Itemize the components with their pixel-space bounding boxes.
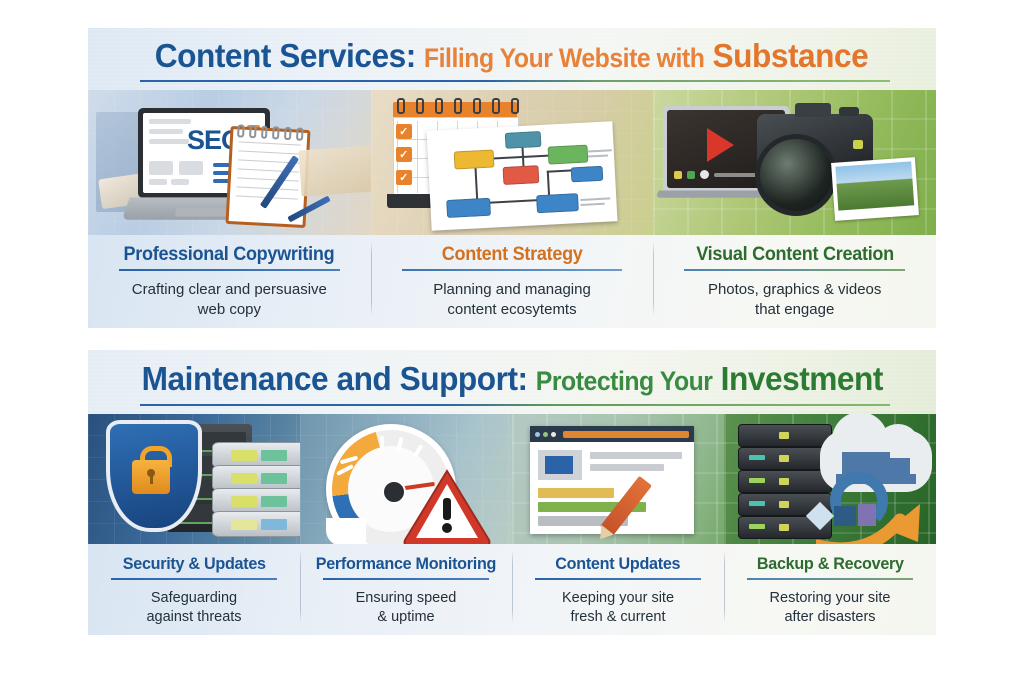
browser-dot: [535, 432, 540, 437]
server-unit: [738, 424, 832, 447]
warning-triangle-icon: [402, 468, 492, 544]
content-line: [590, 452, 682, 459]
browser-dot: [551, 432, 556, 437]
feature-desc-line-2: that engage: [755, 301, 834, 318]
feature-desc-line-1: Crafting clear and persuasive: [132, 281, 327, 298]
feature-title: Content Updates: [556, 553, 681, 575]
feature-description: Safeguarding against threats: [146, 589, 241, 627]
flow-node: [536, 193, 579, 213]
database-disc: [212, 511, 300, 537]
feature-column-content-updates: Content Updates Keeping your site fresh …: [512, 544, 724, 635]
calendar-rings: [397, 98, 521, 114]
flow-node: [446, 198, 491, 218]
flow-node: [504, 131, 541, 149]
feature-title: Professional Copywriting: [124, 244, 335, 266]
camera-viewfinder: [795, 103, 831, 117]
image-band-content-services: SEO: [88, 90, 936, 235]
feature-underline: [111, 578, 276, 580]
feature-column-content-strategy: Content Strategy Planning and managing c…: [371, 235, 654, 328]
laptop-trackpad: [175, 208, 233, 217]
padlock-icon: [132, 460, 170, 494]
title-underline: [140, 404, 890, 406]
feature-column-copywriting: Professional Copywriting Crafting clear …: [88, 235, 371, 328]
calendar-checkmark: ✓: [396, 124, 412, 139]
flow-node: [570, 166, 603, 183]
feature-title: Security & Updates: [123, 553, 266, 575]
content-updates-scene: [512, 414, 724, 544]
feature-desc-line-2: content ecosytemts: [447, 301, 576, 318]
feature-column-performance-monitoring: Performance Monitoring Ensuring speed & …: [300, 544, 512, 635]
content-line: [590, 464, 664, 471]
flow-node: [453, 149, 494, 169]
database-stack: [212, 442, 300, 536]
feature-title: Backup & Recovery: [757, 553, 904, 575]
title-part-2: Filling Your Website with: [424, 43, 704, 74]
calendar-flowchart-scene: ✓ ✓ ✓: [371, 90, 654, 235]
feature-underline: [323, 578, 488, 580]
feature-underline: [535, 578, 700, 580]
screen-skeleton-line: [149, 139, 189, 144]
panel-content-services: Content Services: Filling Your Website w…: [88, 28, 936, 328]
notepad-spiral: [237, 124, 303, 136]
feature-column-security-updates: Security & Updates Safeguarding against …: [88, 544, 300, 635]
paper-stack: [298, 146, 370, 197]
browser-dot: [543, 432, 548, 437]
feature-desc-line-1: Ensuring speed: [356, 590, 457, 606]
feature-title: Performance Monitoring: [316, 553, 496, 575]
feature-description: Ensuring speed & uptime: [356, 589, 457, 627]
caption-band-maintenance-support: Security & Updates Safeguarding against …: [88, 544, 936, 635]
content-bar-yellow: [538, 488, 614, 498]
screen-skeleton-line: [149, 119, 191, 124]
feature-column-visual-content: Visual Content Creation Photos, graphics…: [653, 235, 936, 328]
feature-description: Planning and managing content ecosytemts: [433, 280, 591, 320]
calendar-checkmark: ✓: [396, 147, 412, 162]
feature-underline: [119, 269, 339, 271]
seo-laptop-scene: SEO: [88, 90, 371, 235]
browser-address-bar[interactable]: [563, 431, 689, 438]
recovery-arrow-icon: [816, 502, 926, 544]
screen-skeleton-line: [149, 179, 167, 185]
screen-skeleton-line: [171, 179, 189, 185]
feature-underline: [747, 578, 912, 580]
feature-underline: [402, 269, 622, 271]
flow-node: [547, 145, 588, 165]
panel-header-content-services: Content Services: Filling Your Website w…: [88, 28, 936, 90]
feature-desc-line-2: & uptime: [377, 609, 434, 625]
camera-lens: [755, 134, 837, 216]
image-band-maintenance-support: [88, 414, 936, 544]
panel-header-maintenance-support: Maintenance and Support: Protecting Your…: [88, 350, 936, 414]
server-unit: [738, 447, 832, 470]
feature-desc-line-1: Keeping your site: [562, 590, 674, 606]
title-part-1: Content Services:: [155, 38, 416, 76]
browser-titlebar: [530, 426, 694, 442]
camera-indicator: [853, 140, 863, 149]
screen-skeleton-block: [179, 161, 203, 175]
feature-description: Restoring your site after disasters: [770, 589, 891, 627]
feature-desc-line-2: against threats: [146, 609, 241, 625]
title-part-1: Maintenance and Support:: [141, 361, 527, 399]
feature-description: Crafting clear and persuasive web copy: [132, 280, 327, 320]
shield-icon: [106, 420, 202, 532]
feature-desc-line-1: Planning and managing: [433, 281, 591, 298]
video-camera-scene: [653, 90, 936, 235]
photo-image: [836, 161, 915, 210]
infographic-canvas: Content Services: Filling Your Website w…: [0, 0, 1024, 683]
feature-title: Content Strategy: [442, 244, 583, 266]
caption-band-content-services: Professional Copywriting Crafting clear …: [88, 235, 936, 328]
feature-desc-line-1: Safeguarding: [151, 590, 237, 606]
feature-desc-line-1: Restoring your site: [770, 590, 891, 606]
calendar-checkmark: ✓: [396, 170, 412, 185]
feature-title: Visual Content Creation: [696, 244, 894, 266]
flowchart-diagram: [426, 121, 617, 231]
title-part-3: Investment: [720, 361, 882, 399]
performance-gauge-scene: [300, 414, 512, 544]
page-title-content-services: Content Services: Filling Your Website w…: [155, 37, 869, 82]
feature-desc-line-2: fresh & current: [570, 609, 665, 625]
flow-node: [502, 165, 539, 185]
recovery-arrow-svg: [816, 502, 936, 544]
camera-dial: [839, 107, 859, 116]
title-underline: [140, 80, 890, 82]
warning-triangle-svg: [402, 468, 492, 544]
page-title-maintenance-support: Maintenance and Support: Protecting Your…: [141, 360, 882, 405]
title-part-3: Substance: [713, 38, 869, 76]
feature-underline: [684, 269, 904, 271]
feature-description: Keeping your site fresh & current: [562, 589, 674, 627]
panel-maintenance-support: Maintenance and Support: Protecting Your…: [88, 350, 936, 635]
content-image-placeholder: [538, 450, 582, 480]
backup-recovery-scene: [724, 414, 936, 544]
feature-desc-line-1: Photos, graphics & videos: [708, 281, 881, 298]
feature-desc-line-2: after disasters: [784, 609, 875, 625]
play-button-icon: [707, 128, 734, 162]
title-part-2: Protecting Your: [535, 366, 712, 397]
screen-skeleton-line: [149, 129, 183, 134]
landscape-photo: [831, 157, 919, 221]
feature-column-backup-recovery: Backup & Recovery Restoring your site af…: [724, 544, 936, 635]
screen-skeleton-block: [149, 161, 173, 175]
feature-desc-line-2: web copy: [198, 301, 261, 318]
feature-description: Photos, graphics & videos that engage: [708, 280, 881, 320]
security-shield-scene: [88, 414, 300, 544]
